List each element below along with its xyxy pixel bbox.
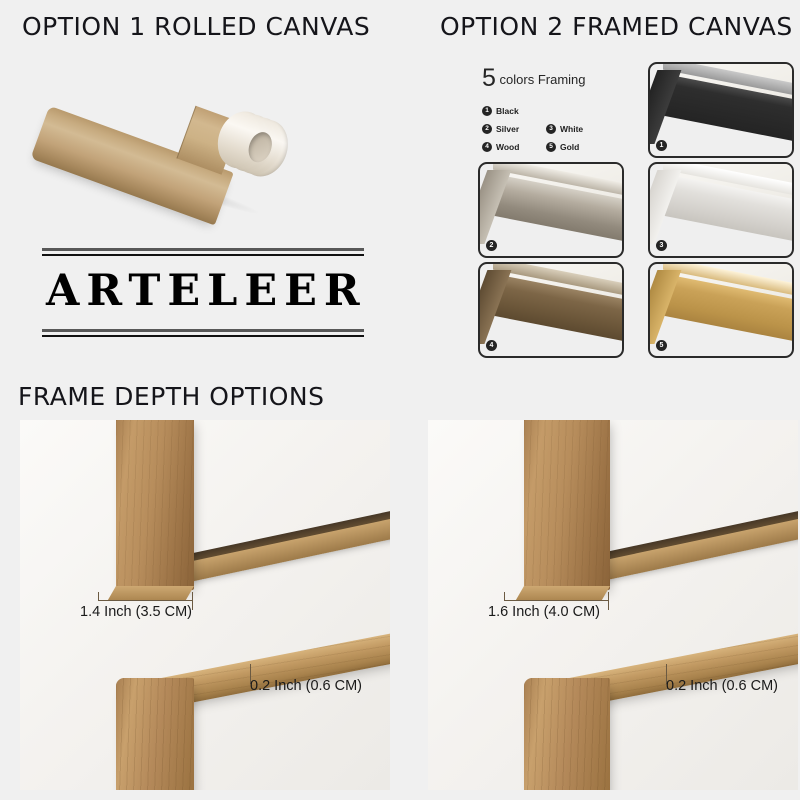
frame-upper-rail-end-face bbox=[516, 586, 610, 600]
legend-label-gold: Gold bbox=[560, 142, 579, 152]
option-2-title: OPTION 2 FRAMED CANVAS bbox=[440, 12, 793, 41]
silver-frame-sample[interactable]: 2 bbox=[478, 162, 624, 258]
frame-corner-render bbox=[650, 64, 792, 156]
number-badge-1-icon: 1 bbox=[482, 106, 492, 116]
frame-corner-render bbox=[480, 164, 622, 256]
white-frame-sample[interactable]: 3 bbox=[648, 162, 794, 258]
logo-rule-top bbox=[42, 248, 364, 256]
dimension-tick-width-right bbox=[192, 592, 193, 610]
brand-logo: ARTELEER bbox=[42, 248, 364, 337]
legend-heading-text: colors Framing bbox=[500, 72, 586, 87]
dimension-tick-width bbox=[98, 600, 192, 601]
frame-corner-render bbox=[480, 264, 622, 356]
dimension-tick-width-left bbox=[504, 592, 505, 601]
legend-item-wood[interactable]: 4 Wood bbox=[482, 142, 542, 152]
frame-depth-photo-40mm: 1.6 Inch (4.0 CM) 0.2 Inch (0.6 CM) bbox=[428, 420, 798, 790]
dimension-tick-width bbox=[504, 600, 608, 601]
legend-label-silver: Silver bbox=[496, 124, 519, 134]
wood-frame-sample[interactable]: 4 bbox=[478, 262, 624, 358]
sample-number-badge-2: 2 bbox=[486, 240, 497, 251]
brand-name: ARTELEER bbox=[42, 256, 364, 329]
legend-item-silver[interactable]: 2 Silver bbox=[482, 124, 542, 134]
legend-label-wood: Wood bbox=[496, 142, 519, 152]
frame-lower-corner-block bbox=[524, 678, 610, 790]
logo-rule-thin-bottom bbox=[42, 335, 364, 337]
frame-upper-vertical-rail bbox=[116, 420, 194, 590]
frame-thickness-label: 0.2 Inch (0.6 CM) bbox=[250, 678, 362, 694]
legend-items: 1 Black 2 Silver 3 White 4 Wood 5 Gold bbox=[482, 106, 612, 152]
legend-heading: 5 colors Framing bbox=[482, 64, 612, 93]
frame-upper-rail-end-face bbox=[108, 586, 194, 600]
sample-number-badge-4: 4 bbox=[486, 340, 497, 351]
framing-color-panel: 5 colors Framing 1 Black 2 Silver 3 Whit… bbox=[476, 60, 796, 360]
sample-number-badge-3: 3 bbox=[656, 240, 667, 251]
number-badge-4-icon: 4 bbox=[482, 142, 492, 152]
legend-label-white: White bbox=[560, 124, 583, 134]
frame-width-label: 1.6 Inch (4.0 CM) bbox=[488, 604, 600, 620]
frame-corner-render bbox=[650, 264, 792, 356]
option-1-title: OPTION 1 ROLLED CANVAS bbox=[22, 12, 370, 41]
frame-depth-photo-35mm: 1.4 Inch (3.5 CM) 0.2 Inch (0.6 CM) bbox=[20, 420, 390, 790]
frame-upper-vertical-rail bbox=[524, 420, 610, 590]
framing-color-legend: 5 colors Framing 1 Black 2 Silver 3 Whit… bbox=[482, 64, 612, 152]
rolled-canvas-tube-illustration bbox=[34, 62, 284, 197]
legend-item-black[interactable]: 1 Black bbox=[482, 106, 542, 116]
sample-number-badge-1: 1 bbox=[656, 140, 667, 151]
frame-depth-title: FRAME DEPTH OPTIONS bbox=[18, 382, 324, 411]
frame-width-label: 1.4 Inch (3.5 CM) bbox=[80, 604, 192, 620]
dimension-tick-width-left bbox=[98, 592, 99, 601]
legend-item-gold[interactable]: 5 Gold bbox=[546, 142, 606, 152]
frame-corner-render bbox=[650, 164, 792, 256]
sample-number-badge-5: 5 bbox=[656, 340, 667, 351]
logo-rule-bottom bbox=[42, 329, 364, 337]
frame-lower-corner-block bbox=[116, 678, 194, 790]
number-badge-2-icon: 2 bbox=[482, 124, 492, 134]
legend-spacer bbox=[546, 106, 606, 116]
gold-frame-sample[interactable]: 5 bbox=[648, 262, 794, 358]
legend-item-white[interactable]: 3 White bbox=[546, 124, 606, 134]
legend-count: 5 bbox=[482, 64, 496, 92]
number-badge-3-icon: 3 bbox=[546, 124, 556, 134]
number-badge-5-icon: 5 bbox=[546, 142, 556, 152]
dimension-tick-width-right bbox=[608, 592, 609, 610]
black-frame-sample[interactable]: 1 bbox=[648, 62, 794, 158]
legend-label-black: Black bbox=[496, 106, 519, 116]
frame-thickness-label: 0.2 Inch (0.6 CM) bbox=[666, 678, 778, 694]
